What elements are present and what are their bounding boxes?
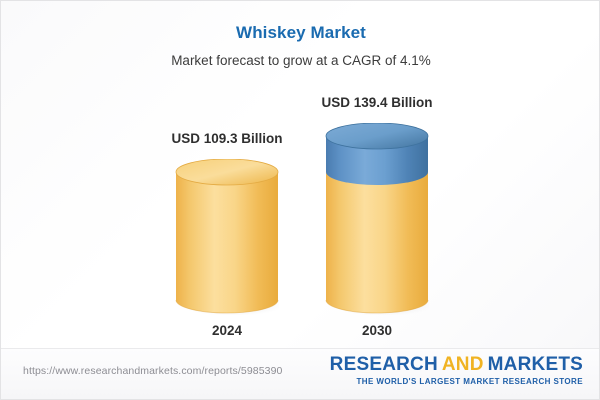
logo-word-markets: MARKETS [488, 354, 583, 375]
bar-value-label-2030: USD 139.4 Billion [291, 95, 463, 110]
logo-tagline: THE WORLD'S LARGEST MARKET RESEARCH STOR… [330, 377, 583, 386]
cylinder-2030[interactable] [325, 123, 429, 315]
chart-card: Whiskey Market Market forecast to grow a… [0, 0, 600, 400]
bar-value-label-2024: USD 109.3 Billion [141, 131, 313, 146]
footer: https://www.researchandmarkets.com/repor… [1, 348, 599, 399]
cylinder-2024[interactable] [175, 159, 279, 315]
logo-word-research: RESEARCH [330, 354, 438, 375]
logo-wordmark: RESEARCHANDMARKETS [330, 355, 583, 375]
bar-category-label-2030: 2030 [291, 323, 463, 338]
bar-category-label-2024: 2024 [141, 323, 313, 338]
source-url-link[interactable]: https://www.researchandmarkets.com/repor… [23, 365, 282, 377]
research-and-markets-logo[interactable]: RESEARCHANDMARKETS THE WORLD'S LARGEST M… [330, 355, 583, 386]
logo-word-and: AND [442, 354, 484, 375]
chart-plot-area: USD 109.3 Billion [1, 1, 600, 349]
